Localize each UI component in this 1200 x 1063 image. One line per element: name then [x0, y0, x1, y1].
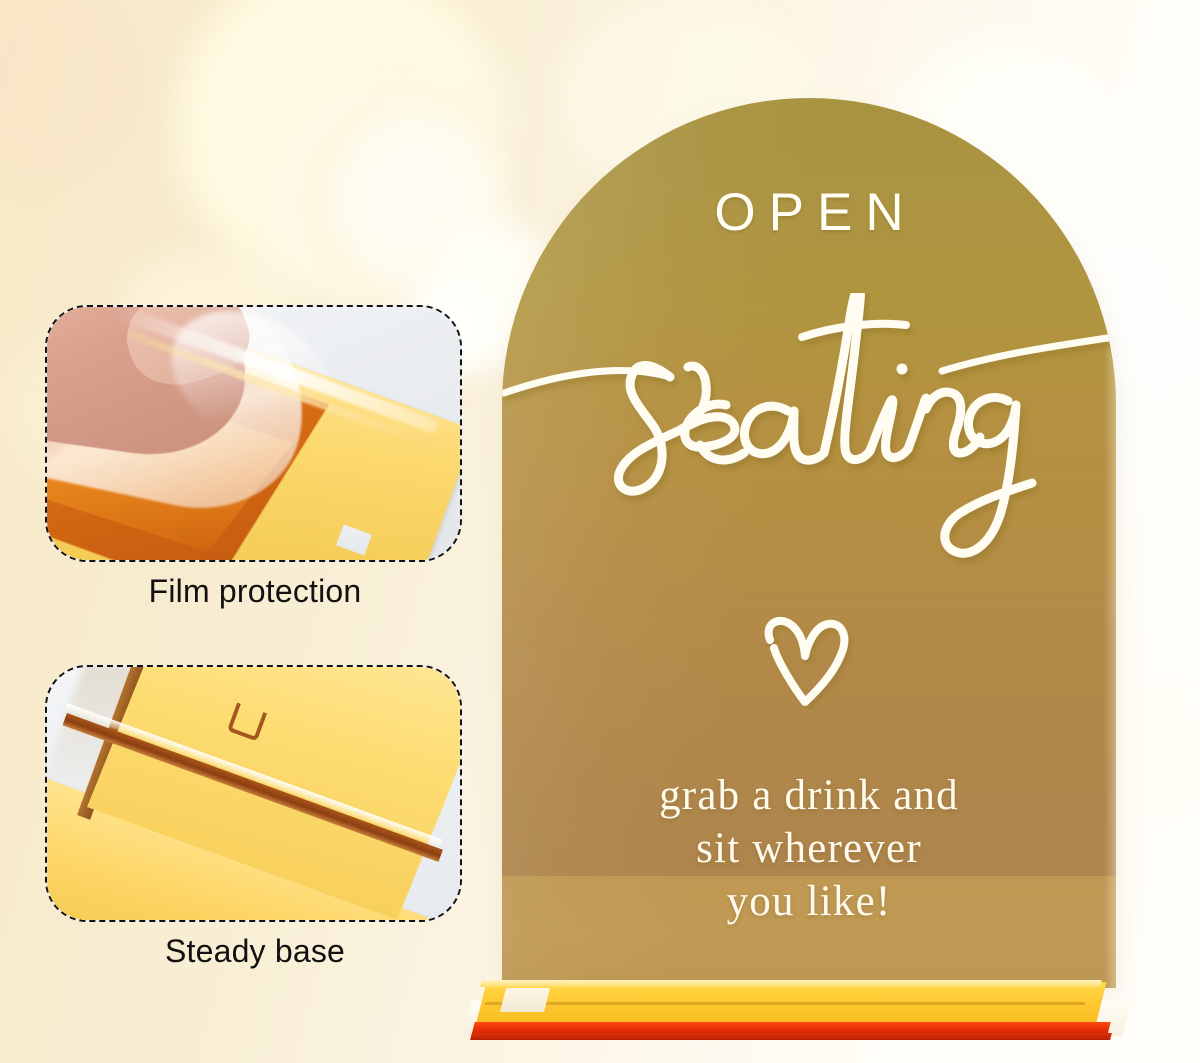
feature-panel-film-protection: Film protection — [45, 305, 465, 635]
film-protection-image-frame — [45, 305, 462, 562]
steady-base-image-frame — [45, 665, 462, 922]
feature-panel-steady-base: Steady base — [45, 665, 465, 995]
sign-body-line-3: you like! — [502, 876, 1116, 929]
seating-script-svg — [502, 293, 1116, 653]
sign-body-text: grab a drink and sit wherever you like! — [502, 770, 1116, 929]
stand-gold-top-highlight — [480, 980, 1102, 987]
product-feature-graphic: Film protection Steady base OPEN — [0, 0, 1200, 1063]
sign-body-line-2: sit wherever — [502, 823, 1116, 876]
steady-base-caption: Steady base — [45, 933, 465, 970]
stand-seam — [485, 1002, 1086, 1005]
sign-body-line-1: grab a drink and — [502, 770, 1116, 823]
acrylic-stand-base — [495, 978, 1135, 1063]
heart-icon-svg — [502, 610, 1116, 710]
sign-heading-open: OPEN — [502, 182, 1116, 243]
stand-left-notch — [500, 988, 550, 1012]
arch-sign-face: OPEN — [502, 98, 1116, 988]
stand-red-edge-shadow — [470, 1033, 1112, 1040]
film-protection-caption: Film protection — [45, 573, 465, 610]
open-seating-sign: OPEN — [495, 98, 1120, 1003]
heart-icon — [502, 610, 1116, 710]
sign-script-seating — [502, 293, 1116, 653]
